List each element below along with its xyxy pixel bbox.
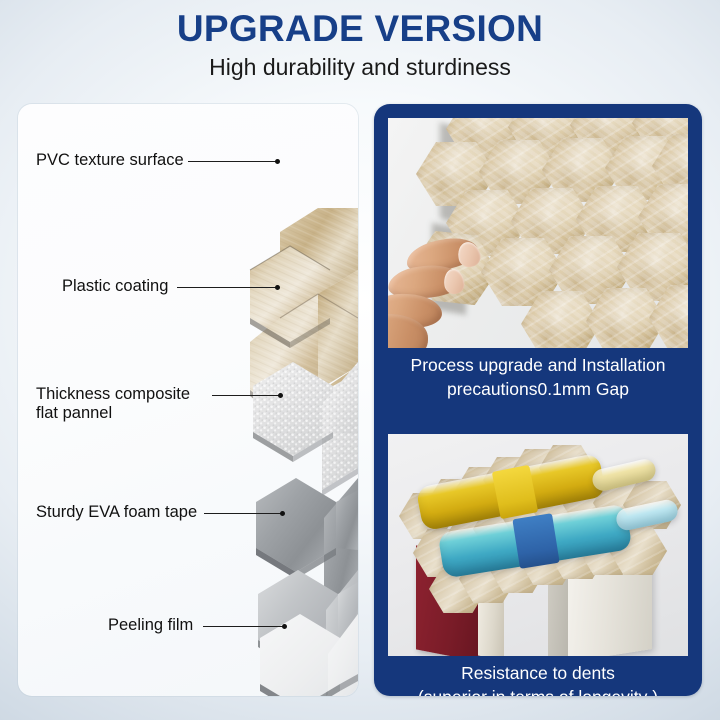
leader-line-pvc-texture-surface xyxy=(188,161,278,162)
infographic-root: UPGRADE VERSION High durability and stur… xyxy=(0,0,720,720)
leader-line-plastic-coating xyxy=(177,287,278,288)
caption-process-upgrade: Process upgrade and Installation precaut… xyxy=(382,354,694,401)
layer-label-eva-foam-tape: Sturdy EVA foam tape xyxy=(36,503,216,522)
photo-bottles-resting-on-tile-sheet xyxy=(388,434,688,656)
page-subtitle: High durability and sturdiness xyxy=(0,52,720,82)
layer-label-thickness-panel: Thickness composite flat pannel xyxy=(36,385,226,423)
bottle-blue-label xyxy=(512,513,559,569)
layer-label-plastic-coating: Plastic coating xyxy=(62,277,192,296)
layer-diagram-card: PVC texture surface Plastic coating Thic… xyxy=(18,104,358,696)
layer-label-pvc-texture-surface: PVC texture surface xyxy=(36,151,196,170)
layer-label-peeling-film: Peeling film xyxy=(108,616,218,635)
hand xyxy=(388,236,494,348)
layer-thickness-composite-flat-pannel xyxy=(256,478,358,611)
layer-pvc-texture-surface xyxy=(250,208,358,448)
header: UPGRADE VERSION High durability and stur… xyxy=(0,0,720,96)
feature-photo-column: Process upgrade and Installation precaut… xyxy=(374,104,702,696)
photo-hand-peeling-hexagon-tile-on-wall xyxy=(388,118,688,348)
layer-plastic-coating xyxy=(253,362,358,496)
caption-resistance-to-dents: Resistance to dents (superior in terms o… xyxy=(382,662,694,696)
layer-sturdy-eva-foam-tape xyxy=(258,570,358,696)
page-title: UPGRADE VERSION xyxy=(0,9,720,49)
